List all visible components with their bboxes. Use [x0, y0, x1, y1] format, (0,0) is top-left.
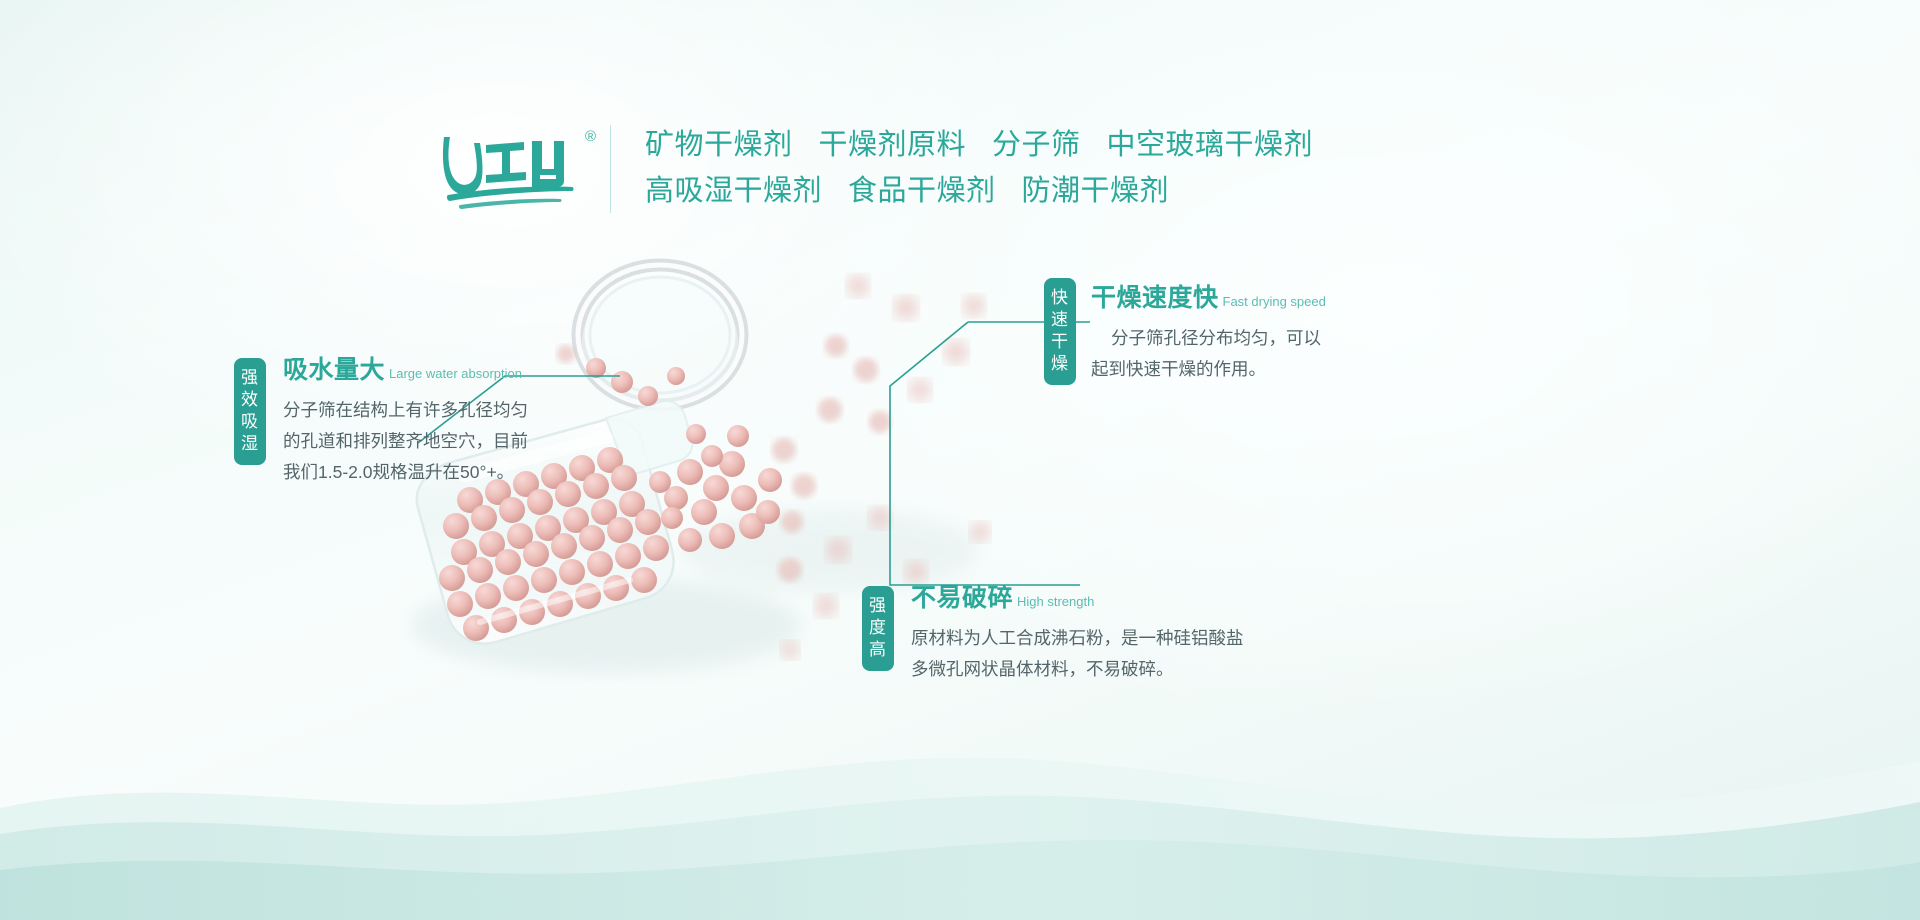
site-header: ® 矿物干燥剂干燥剂原料分子筛中空玻璃干燥剂 高吸湿干燥剂食品干燥剂防潮干燥剂	[0, 0, 1920, 250]
nav-line-1: 矿物干燥剂干燥剂原料分子筛中空玻璃干燥剂	[645, 122, 1465, 168]
callout-description: 分子筛在结构上有许多孔径均匀 的孔道和排列整齐地空穴，目前 我们1.5-2.0规…	[283, 395, 528, 488]
callout-title: 吸水量大Large water absorption	[283, 350, 528, 386]
header-divider	[610, 125, 611, 213]
nav-item-molecular-sieve[interactable]: 分子筛	[992, 129, 1081, 161]
callout-title-cn: 不易破碎	[911, 584, 1013, 612]
callout-large-water-absorption: 强效吸湿 吸水量大Large water absorption 分子筛在结构上有…	[234, 350, 528, 488]
nav-item-desiccant-raw-material[interactable]: 干燥剂原料	[819, 129, 967, 161]
callout-body: 干燥速度快Fast drying speed 分子筛孔径分布均匀，可以 起到快速…	[1091, 278, 1326, 385]
nav-item-mineral-desiccant[interactable]: 矿物干燥剂	[645, 129, 793, 161]
nav-line-2: 高吸湿干燥剂食品干燥剂防潮干燥剂	[645, 168, 1465, 214]
callout-title-en: Large water absorption	[389, 366, 522, 381]
callout-tag-high-strength: 强度高	[862, 586, 894, 671]
bottle-cap-ring	[578, 265, 742, 406]
yaxin-logo-mark	[440, 125, 590, 215]
nav-item-moisture-proof-desiccant[interactable]: 防潮干燥剂	[1022, 175, 1170, 207]
brand-logo[interactable]	[440, 125, 590, 215]
callout-title-cn: 干燥速度快	[1091, 284, 1219, 312]
nav-item-high-moisture-desiccant[interactable]: 高吸湿干燥剂	[645, 175, 822, 207]
callout-title: 干燥速度快Fast drying speed	[1091, 278, 1326, 314]
callout-tag-fast-drying: 快速干燥	[1044, 278, 1076, 385]
callout-high-strength: 强度高 不易破碎High strength 原材料为人工合成沸石粉，是一种硅铝酸…	[862, 578, 1244, 685]
callout-title-cn: 吸水量大	[283, 356, 385, 384]
callout-tag-strong-absorption: 强效吸湿	[234, 358, 266, 465]
nav-item-food-desiccant[interactable]: 食品干燥剂	[848, 175, 996, 207]
callout-description: 分子筛孔径分布均匀，可以 起到快速干燥的作用。	[1091, 323, 1326, 385]
nav-item-insulating-glass-desiccant[interactable]: 中空玻璃干燥剂	[1107, 129, 1314, 161]
header-nav: 矿物干燥剂干燥剂原料分子筛中空玻璃干燥剂 高吸湿干燥剂食品干燥剂防潮干燥剂	[645, 122, 1465, 214]
callout-title-en: Fast drying speed	[1223, 294, 1326, 309]
callout-fast-drying-speed: 快速干燥 干燥速度快Fast drying speed 分子筛孔径分布均匀，可以…	[1044, 278, 1326, 385]
banner-stage: ® 矿物干燥剂干燥剂原料分子筛中空玻璃干燥剂 高吸湿干燥剂食品干燥剂防潮干燥剂	[0, 0, 1920, 920]
registered-trademark-icon: ®	[585, 128, 596, 145]
callout-description: 原材料为人工合成沸石粉，是一种硅铝酸盐 多微孔网状晶体材料，不易破碎。	[911, 623, 1244, 685]
callout-title: 不易破碎High strength	[911, 578, 1244, 614]
callout-body: 不易破碎High strength 原材料为人工合成沸石粉，是一种硅铝酸盐 多微…	[911, 578, 1244, 685]
callout-title-en: High strength	[1017, 594, 1094, 609]
callout-body: 吸水量大Large water absorption 分子筛在结构上有许多孔径均…	[283, 350, 528, 488]
